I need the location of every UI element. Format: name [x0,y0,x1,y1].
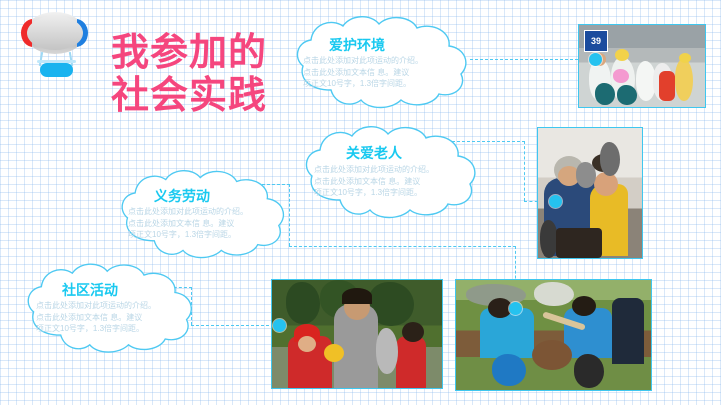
bubble-shequ-title: 社区活动 [62,280,118,300]
hot-air-balloon-icon [16,8,94,80]
marker-dot-huanjing[interactable] [589,53,602,66]
slide-canvas: 我参加的 社会实践 爱护环境 点击此处添加对此项运动的介绍。 点击此处添加文本信… [0,0,721,405]
bubble-huanjing-body: 点击此处添加对此项运动的介绍。 点击此处添加文本信 息。建议 项正文10号字，1… [303,55,471,90]
connector-shequ-seg3 [191,325,279,326]
photo-shequ[interactable] [271,279,443,389]
photo-laodong[interactable] [455,279,652,391]
bubble-laodong-title: 义务劳动 [154,186,210,206]
photo-huanjing[interactable]: 39 [578,24,706,108]
marker-dot-shequ[interactable] [273,319,286,332]
photo-laoren[interactable] [537,127,643,259]
marker-dot-laoren[interactable] [549,195,562,208]
bubble-laodong-body: 点击此处添加对此项运动的介绍。 点击此处添加文本信 息。建议 项正文10号字，1… [128,206,290,241]
bubble-laoren[interactable]: 关爱老人 点击此处添加对此项运动的介绍。 点击此处添加文本信 息。建议 项正文1… [300,122,488,222]
bubble-laoren-title: 关爱老人 [346,143,402,163]
connector-laodong-seg3 [289,246,516,247]
bubble-shequ-body: 点击此处添加对此项运动的介绍。 点击此处添加文本信 息。建议 项正文10号字，1… [36,300,198,335]
bubble-huanjing-title: 爱护环境 [329,35,385,55]
bubble-shequ[interactable]: 社区活动 点击此处添加对此项运动的介绍。 点击此处添加文本信 息。建议 项正文1… [22,258,204,358]
bubble-laodong[interactable]: 义务劳动 点击此处添加对此项运动的介绍。 点击此处添加文本信 息。建议 项正文1… [116,166,296,262]
bubble-huanjing[interactable]: 爱护环境 点击此处添加对此项运动的介绍。 点击此处添加文本信 息。建议 项正文1… [291,12,479,112]
photo-sign-number: 39 [584,30,608,52]
bubble-laoren-body: 点击此处添加对此项运动的介绍。 点击此处添加文本信 息。建议 项正文10号字，1… [314,164,482,199]
connector-huanjing [470,59,593,60]
marker-dot-laodong[interactable] [509,302,522,315]
connector-laoren-seg2 [524,141,525,201]
